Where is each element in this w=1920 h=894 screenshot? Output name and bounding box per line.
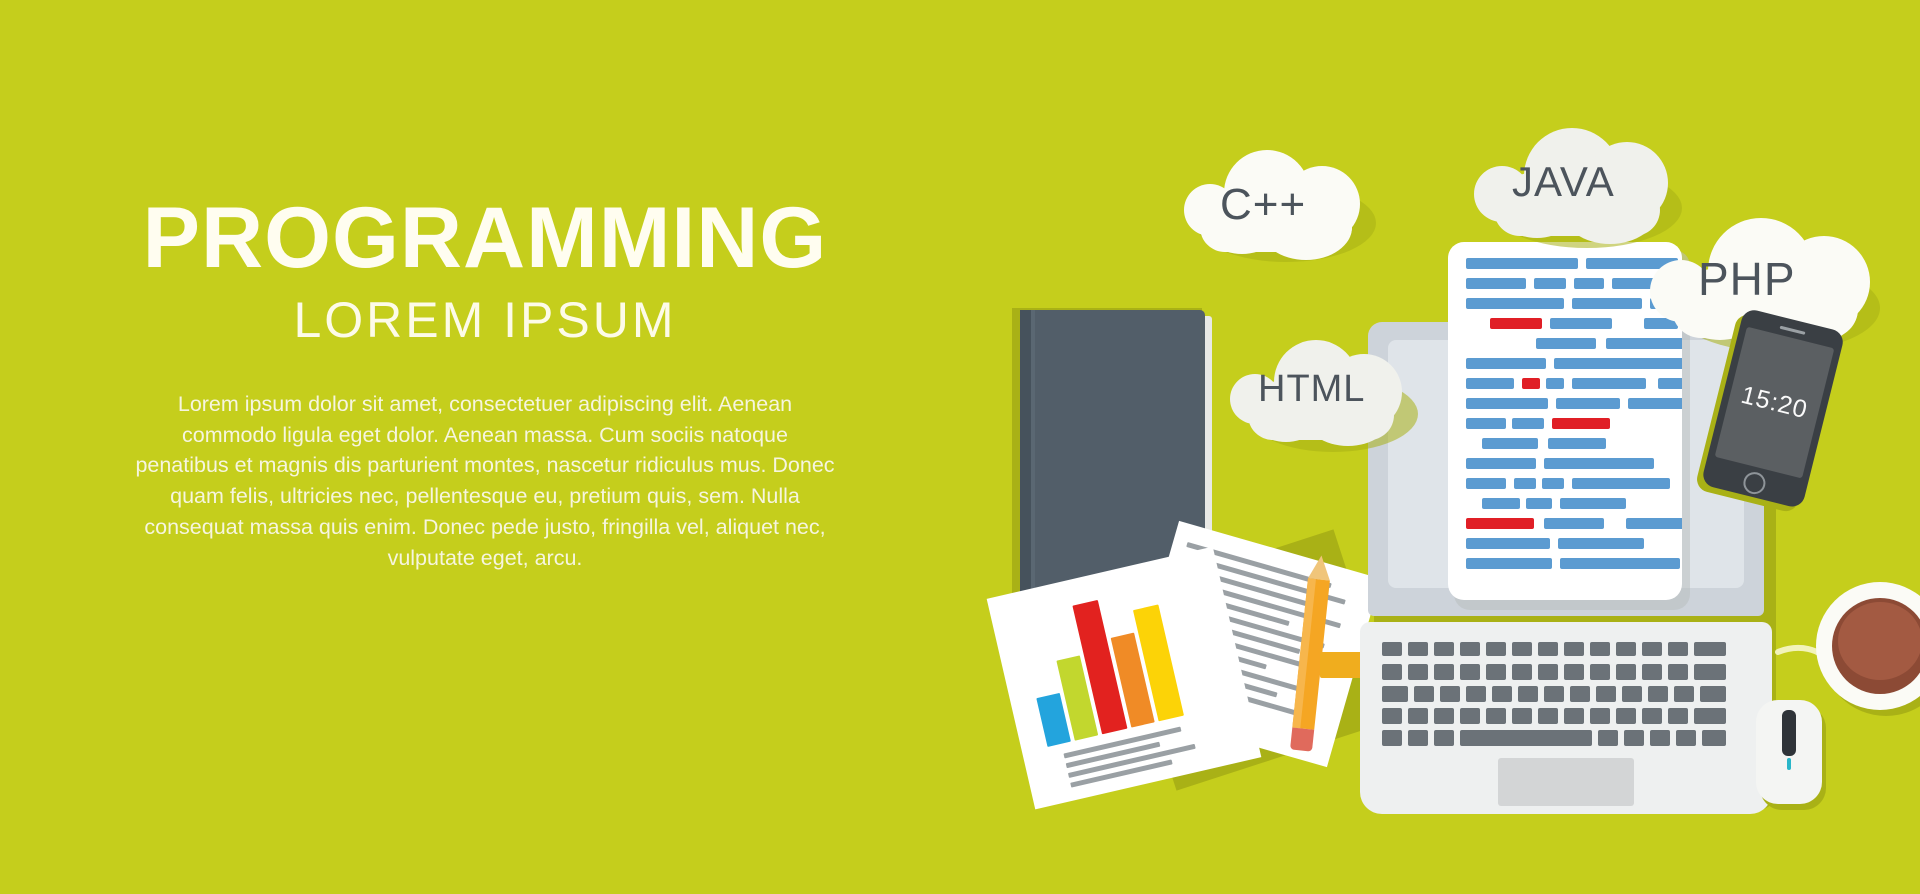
code-line-segment [1466,558,1552,569]
code-line-segment [1526,498,1552,509]
code-line-segment [1628,398,1682,409]
code-line-segment [1466,358,1546,369]
code-line-segment [1466,258,1578,269]
code-line-segment [1466,458,1536,469]
code-line-segment [1536,338,1596,349]
code-line-segment [1466,478,1506,489]
code-document[interactable] [1448,242,1682,600]
code-line-segment [1482,498,1520,509]
smartphone-home-button[interactable] [1741,470,1768,497]
pencil-eraser [1290,727,1314,751]
spacebar-key[interactable] [1460,730,1592,746]
cloud-label-java: JAVA [1512,158,1615,206]
headline-block: PROGRAMMING LOREM IPSUM Lorem ipsum dolo… [120,195,850,573]
code-line-segment [1534,278,1566,289]
code-line-segment [1544,458,1654,469]
code-line-segment [1490,318,1542,329]
code-line-segment [1626,518,1682,529]
cloud-cpp[interactable]: C++ [1180,150,1390,270]
code-line-segment [1560,558,1680,569]
code-line-segment [1514,478,1536,489]
code-line-segment [1558,538,1644,549]
smartphone-speaker [1780,326,1806,335]
mouse-scroll-wheel[interactable] [1787,758,1791,770]
code-line-segment [1572,378,1646,389]
code-line-segment [1550,318,1612,329]
code-line-segment [1572,478,1670,489]
smartphone-clock: 15:20 [1738,380,1811,424]
mouse-button[interactable] [1782,710,1796,756]
cloud-label-html: HTML [1258,368,1365,411]
code-line-segment [1560,498,1626,509]
code-line-segment [1542,478,1564,489]
code-line-segment [1466,518,1534,529]
code-line-segment [1466,418,1506,429]
code-line-segment [1512,418,1544,429]
code-line-segment [1466,538,1550,549]
body-paragraph: Lorem ipsum dolor sit amet, consectetuer… [135,389,835,573]
code-line-segment [1554,358,1682,369]
cloud-html[interactable]: HTML [1230,340,1430,458]
code-line-segment [1466,278,1526,289]
code-lines [1466,258,1670,588]
code-line-segment [1574,278,1604,289]
code-line-segment [1548,438,1606,449]
page-title: PROGRAMMING [120,195,850,281]
code-line-segment [1466,398,1548,409]
laptop-trackpad[interactable] [1498,758,1634,806]
coffee-liquid-highlight [1838,602,1920,680]
code-line-segment [1466,378,1514,389]
pencil-tip [1308,554,1332,580]
code-line-segment [1546,378,1564,389]
code-line-segment [1544,518,1604,529]
code-line-segment [1482,438,1538,449]
cloud-label-cpp: C++ [1220,180,1306,230]
mouse[interactable] [1756,700,1822,804]
code-line-segment [1466,298,1564,309]
bar-chart [1018,585,1194,747]
code-line-segment [1522,378,1540,389]
page-subtitle: LOREM IPSUM [120,295,850,345]
banner-root: PROGRAMMING LOREM IPSUM Lorem ipsum dolo… [0,0,1920,894]
cloud-label-php: PHP [1698,252,1796,306]
laptop-keyboard[interactable] [1382,642,1754,746]
code-line-segment [1552,418,1610,429]
code-line-segment [1658,378,1682,389]
code-line-segment [1572,298,1642,309]
code-line-segment [1556,398,1620,409]
illustration: C++ JAVA PHP [1020,140,1920,820]
